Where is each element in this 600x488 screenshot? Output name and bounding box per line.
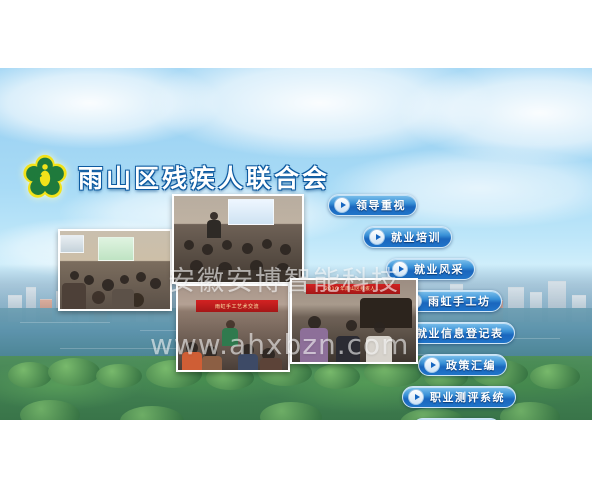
cloud-decor <box>150 68 490 158</box>
photo-registration-office[interactable]: 2016 年雨山区残疾人... <box>290 278 418 364</box>
photo-banner-text: 2016 年雨山区残疾人... <box>306 284 400 294</box>
disabled-persons-federation-flower-logo <box>22 154 68 200</box>
menu-item-label: 雨虹手工坊 <box>428 296 491 307</box>
photo-meeting-room[interactable] <box>58 229 172 311</box>
menu-item-label: 就业培训 <box>391 232 441 243</box>
menu-item-label: 职业测评系统 <box>430 392 505 403</box>
play-arrow-icon <box>369 229 385 245</box>
banner-image: 雨山区残疾人联合会 领导重视 就业培训 就业风采 雨虹手工坊 <box>0 68 592 420</box>
menu-item-leadership[interactable]: 领导重视 <box>328 194 417 216</box>
menu-item-employment-training[interactable]: 就业培训 <box>363 226 452 248</box>
menu-item-label: 就业信息登记表 <box>416 328 504 339</box>
photo-banner-text: 雨虹手工艺术交流 <box>196 300 278 312</box>
play-arrow-icon <box>392 261 408 277</box>
photo-lecture-hall[interactable] <box>172 194 304 284</box>
menu-item-vocational-assessment-system[interactable]: 职业测评系统 <box>402 386 516 408</box>
play-arrow-icon <box>334 197 350 213</box>
cloud-decor <box>330 148 592 228</box>
menu-item-employment-website[interactable]: 就业网站 <box>412 418 501 420</box>
cloud-decor <box>0 68 220 148</box>
menu-item-employment-showcase[interactable]: 就业风采 <box>386 258 475 280</box>
menu-item-policy-compilation[interactable]: 政策汇编 <box>418 354 507 376</box>
poster-page: 雨山区残疾人联合会 领导重视 就业培训 就业风采 雨虹手工坊 <box>0 0 600 488</box>
menu-item-label: 就业风采 <box>414 264 464 275</box>
play-arrow-icon <box>408 389 424 405</box>
cloud-decor <box>400 68 592 163</box>
play-arrow-icon <box>424 357 440 373</box>
page-title: 雨山区残疾人联合会 <box>78 159 330 195</box>
menu-item-label: 领导重视 <box>356 200 406 211</box>
photo-classroom-red-banner[interactable]: 雨虹手工艺术交流 <box>176 284 290 372</box>
menu-item-label: 政策汇编 <box>446 360 496 371</box>
